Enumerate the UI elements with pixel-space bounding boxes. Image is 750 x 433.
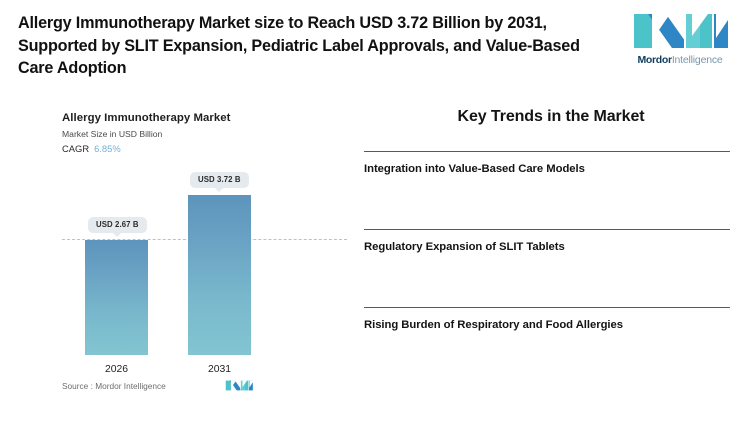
mordor-intelligence-logo-small-icon xyxy=(224,379,254,392)
brand-wordmark-light: Intelligence xyxy=(672,54,723,66)
trend-item: Rising Burden of Respiratory and Food Al… xyxy=(364,307,730,331)
page-title: Allergy Immunotherapy Market size to Rea… xyxy=(18,12,598,80)
trend-divider xyxy=(364,151,730,152)
brand-wordmark-bold: Mordor xyxy=(637,54,671,66)
bar-2031 xyxy=(188,195,251,355)
bar-2026 xyxy=(85,240,148,355)
trend-label: Regulatory Expansion of SLIT Tablets xyxy=(364,241,730,253)
chart-panel: Allergy Immunotherapy Market Market Size… xyxy=(0,95,350,413)
brand-logo: MordorIntelligence xyxy=(628,10,732,72)
trend-divider xyxy=(364,229,730,230)
brand-wordmark: MordorIntelligence xyxy=(628,54,732,66)
page-header: Allergy Immunotherapy Market size to Rea… xyxy=(0,0,750,92)
trend-label: Integration into Value-Based Care Models xyxy=(364,163,730,175)
x-axis-tick-2026: 2026 xyxy=(85,364,148,375)
chart-source: Source : Mordor Intelligence xyxy=(62,381,166,391)
trend-label: Rising Burden of Respiratory and Food Al… xyxy=(364,319,730,331)
trend-item: Regulatory Expansion of SLIT Tablets xyxy=(364,229,730,253)
bar-chart-plot: USD 2.67 B USD 3.72 B 2026 2031 xyxy=(0,95,350,413)
trend-divider xyxy=(364,307,730,308)
trend-item: Integration into Value-Based Care Models xyxy=(364,151,730,175)
bar-value-label-2031: USD 3.72 B xyxy=(190,172,249,189)
key-trends-heading: Key Trends in the Market xyxy=(371,108,731,126)
mordor-intelligence-logo-icon xyxy=(628,10,732,52)
bar-value-label-2026: USD 2.67 B xyxy=(88,217,147,234)
key-trends-panel: Key Trends in the Market Integration int… xyxy=(352,95,750,413)
x-axis-tick-2031: 2031 xyxy=(188,364,251,375)
